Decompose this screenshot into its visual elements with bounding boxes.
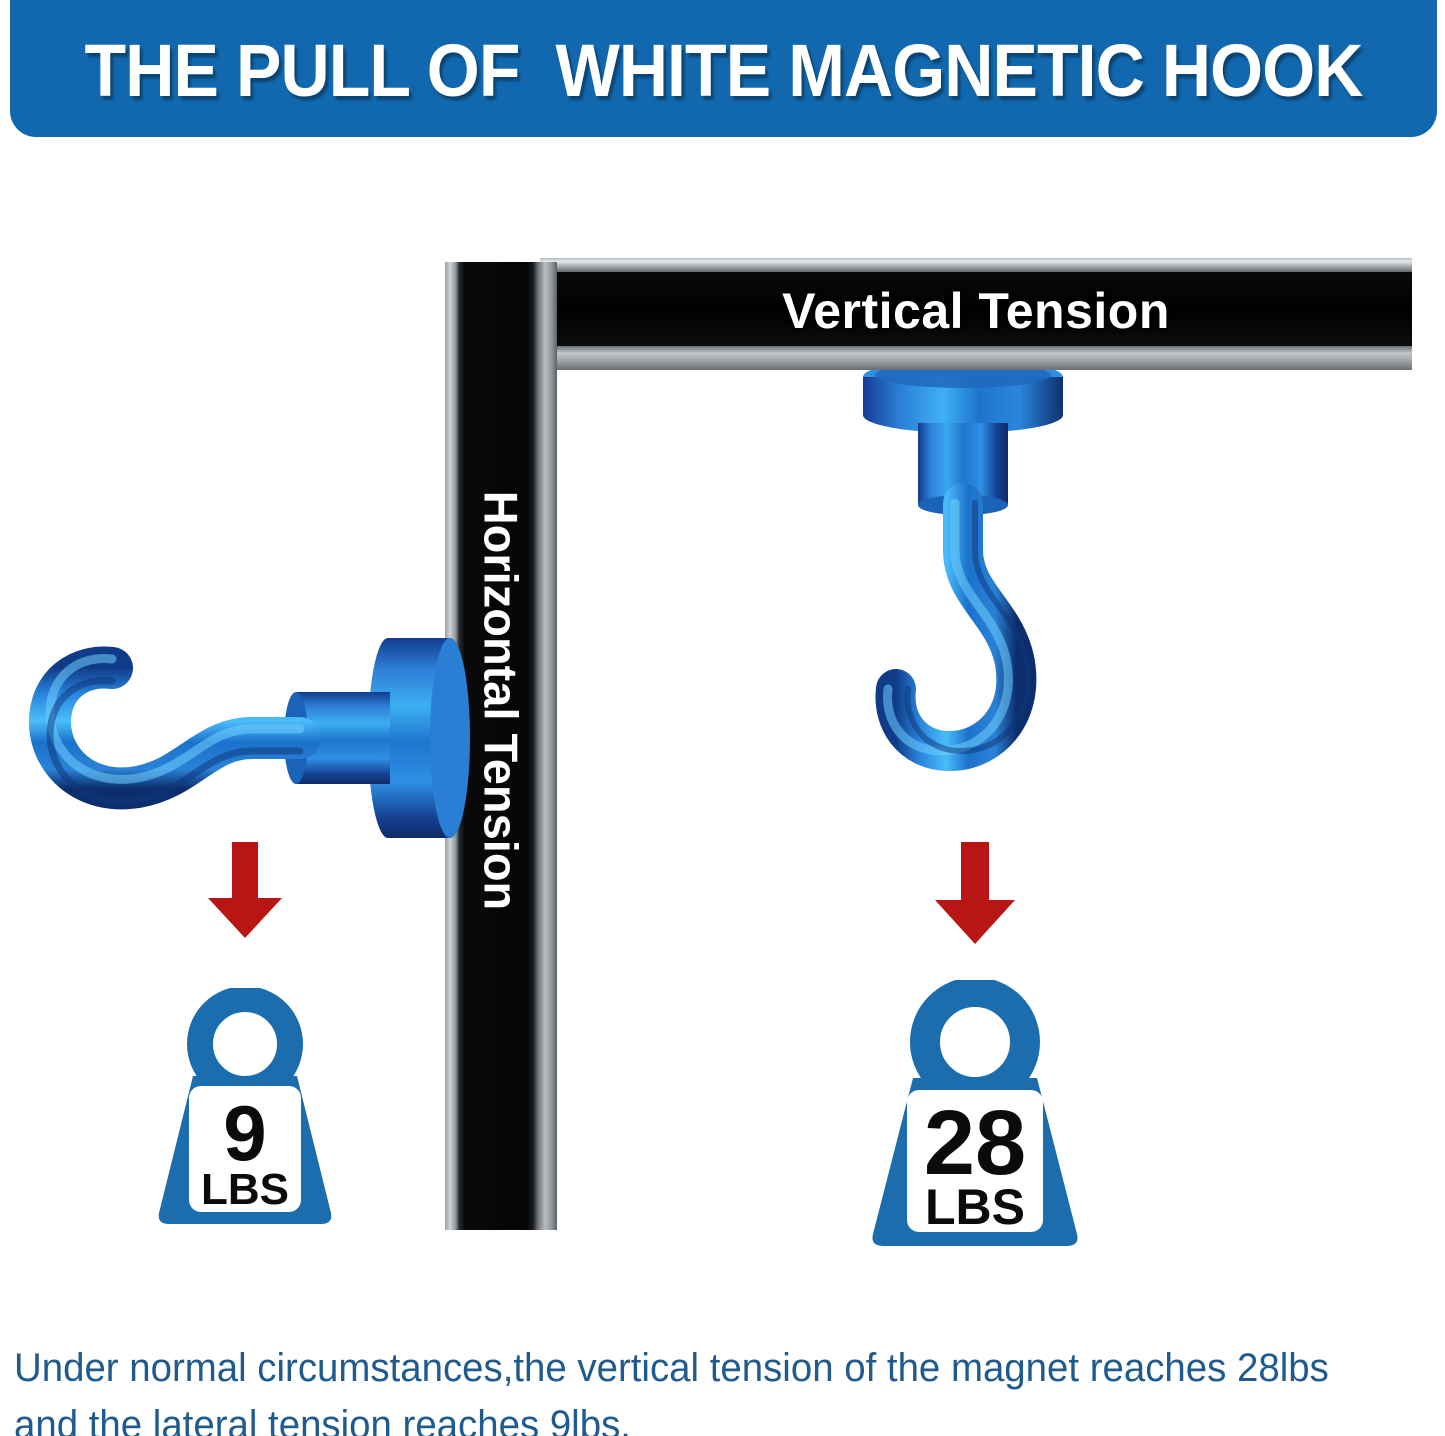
- weight-value: 9: [223, 1089, 266, 1177]
- infographic-page: THE PULL OF WHITE MAGNETIC HOOK Vertical…: [0, 0, 1445, 1436]
- header-banner: THE PULL OF WHITE MAGNETIC HOOK: [10, 0, 1437, 137]
- down-arrow-svg: [929, 840, 1021, 946]
- down-arrow-svg: [202, 840, 288, 940]
- weight-unit: LBS: [925, 1179, 1025, 1235]
- vertical-hook-illustration: [800, 345, 1130, 815]
- caption-text: Under normal circumstances,the vertical …: [14, 1340, 1377, 1436]
- hook-svg-horizontal: [0, 540, 470, 840]
- weight-svg-9: 9 LBS: [145, 988, 345, 1228]
- down-arrow-icon: [202, 840, 288, 945]
- hook-svg-vertical: [800, 345, 1130, 815]
- horizontal-hook-illustration: [0, 540, 470, 840]
- down-arrow-icon: [929, 840, 1021, 951]
- diagram-scene: Vertical Tension: [0, 140, 1445, 1300]
- weight-unit: LBS: [201, 1165, 289, 1214]
- horizontal-shelf: Vertical Tension: [540, 258, 1412, 370]
- weight-svg-28: 28 LBS: [857, 980, 1093, 1252]
- weight-icon: 9 LBS: [145, 988, 345, 1233]
- vertical-tension-label: Vertical Tension: [540, 276, 1412, 346]
- measurement-group-horizontal: 9 LBS: [130, 840, 360, 1300]
- weight-icon: 28 LBS: [857, 980, 1093, 1257]
- measurement-group-vertical: 28 LBS: [850, 840, 1100, 1310]
- page-title: THE PULL OF WHITE MAGNETIC HOOK: [85, 24, 1363, 108]
- shelf-bottom-edge: [540, 346, 1412, 370]
